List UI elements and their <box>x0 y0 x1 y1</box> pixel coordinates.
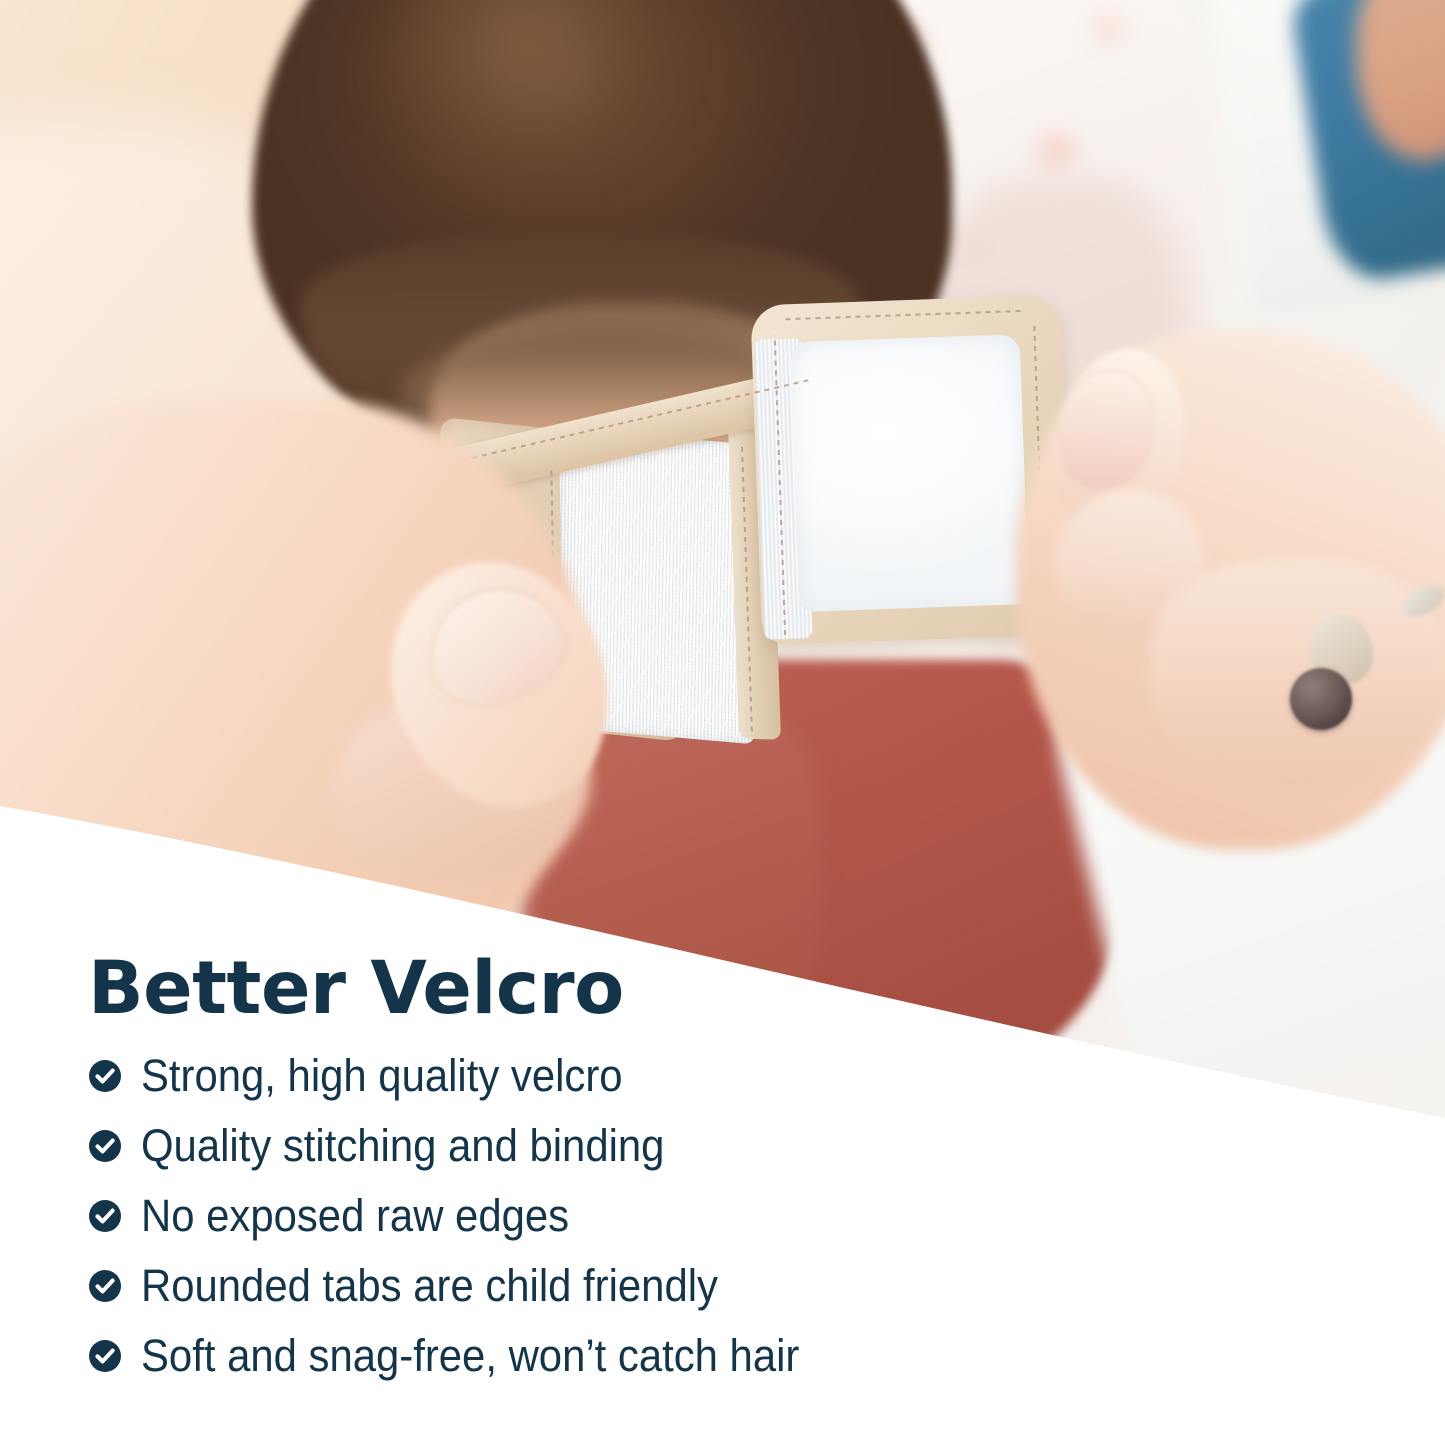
list-item-label: Soft and snag-free, won’t catch hair <box>141 1332 799 1379</box>
velcro-hook-side <box>790 334 1029 612</box>
feature-list: Strong, high quality velcro Quality stit… <box>88 1051 1338 1381</box>
check-circle-icon <box>88 1129 122 1163</box>
list-item: Quality stitching and binding <box>88 1121 1338 1171</box>
knuckles-right <box>1150 560 1445 790</box>
check-circle-icon <box>88 1269 122 1303</box>
check-circle-icon <box>88 1059 122 1093</box>
check-circle-icon <box>88 1199 122 1233</box>
list-item-label: No exposed raw edges <box>141 1192 569 1239</box>
list-item: Strong, high quality velcro <box>88 1051 1338 1101</box>
page-title: Better Velcro <box>88 952 1338 1025</box>
feature-content: Better Velcro Strong, high quality velcr… <box>88 952 1338 1401</box>
product-feature-card: Better Velcro Strong, high quality velcr… <box>0 0 1445 1445</box>
list-item: Rounded tabs are child friendly <box>88 1261 1338 1311</box>
list-item-label: Quality stitching and binding <box>141 1122 664 1169</box>
pearl-ring-stone <box>1290 668 1352 730</box>
list-item: Soft and snag-free, won’t catch hair <box>88 1331 1338 1381</box>
check-circle-icon <box>88 1339 122 1373</box>
list-item: No exposed raw edges <box>88 1191 1338 1241</box>
list-item-label: Rounded tabs are child friendly <box>141 1262 718 1309</box>
list-item-label: Strong, high quality velcro <box>141 1052 623 1099</box>
